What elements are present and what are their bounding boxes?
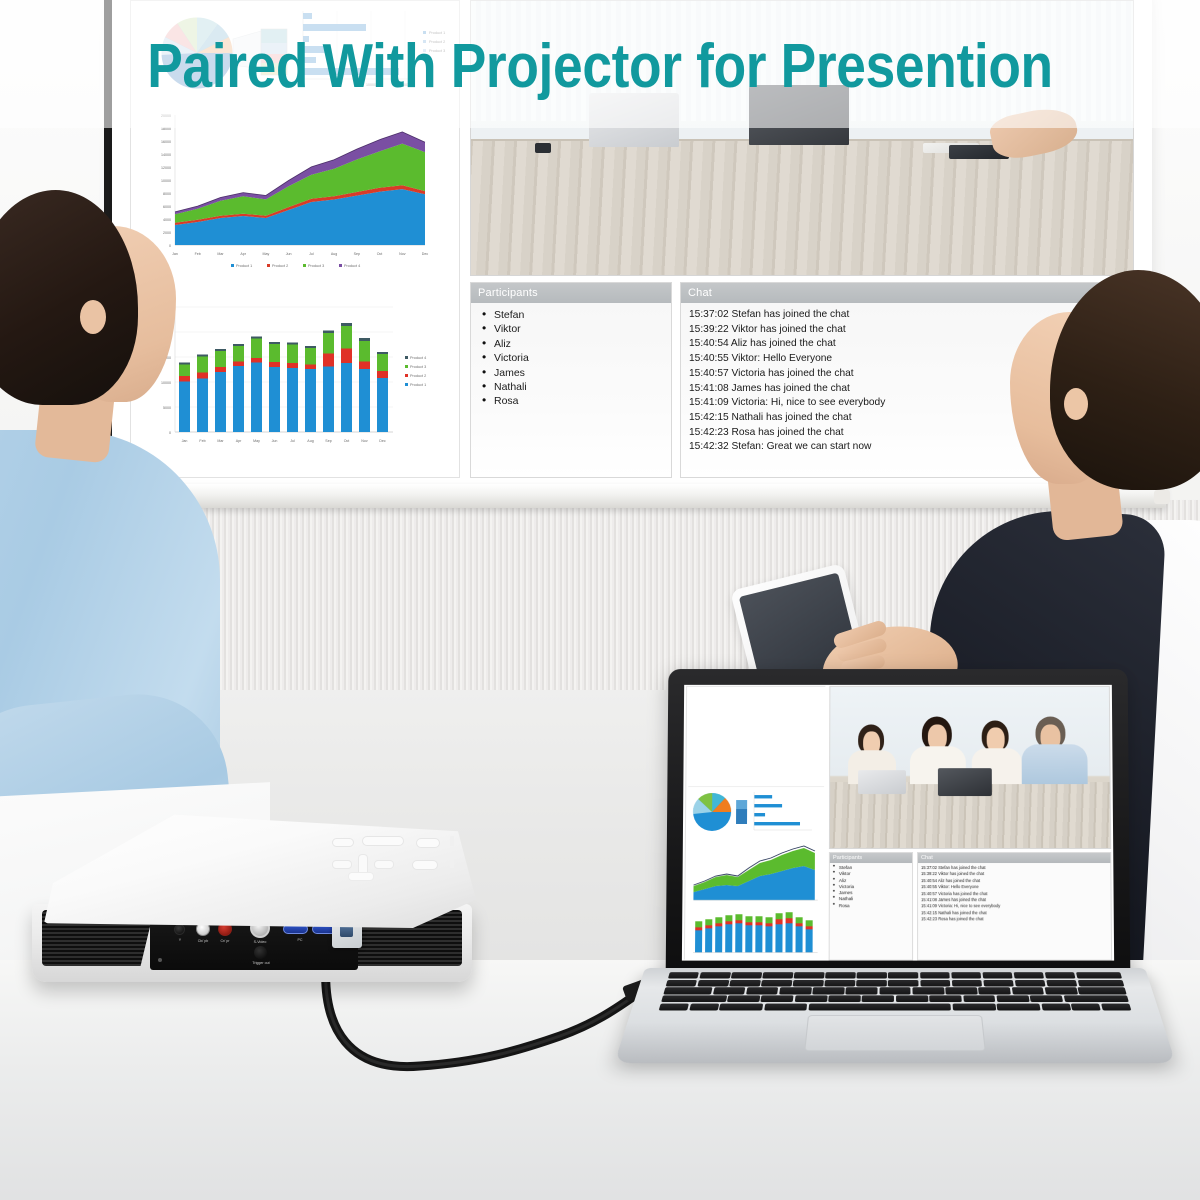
key[interactable]: [862, 995, 894, 1002]
laptop-participants-panel: Participants Stefan Viktor Aliz Victoria…: [829, 852, 913, 961]
key-control[interactable]: [689, 1003, 719, 1010]
svg-text:Oct: Oct: [377, 252, 383, 256]
status-indicator-1: [450, 836, 454, 846]
key[interactable]: [920, 972, 950, 979]
key[interactable]: [795, 995, 828, 1002]
list-item: Rosa: [833, 903, 909, 909]
port-label-s-video: S-Video: [244, 940, 276, 944]
svg-text:Aug: Aug: [331, 252, 337, 256]
port-component-y[interactable]: [174, 924, 185, 935]
list-item[interactable]: Victoria: [479, 351, 663, 365]
key[interactable]: [793, 980, 824, 987]
key[interactable]: [727, 995, 760, 1002]
key[interactable]: [746, 988, 779, 995]
list-item[interactable]: Rosa: [479, 394, 663, 408]
svg-text:Sep: Sep: [325, 439, 331, 443]
person-right-ear: [1064, 388, 1088, 420]
key[interactable]: [951, 980, 982, 987]
key[interactable]: [912, 988, 944, 995]
panel-screw-left-bottom: [158, 958, 162, 962]
svg-text:Product 3: Product 3: [410, 365, 426, 369]
laptop-chat-header: Chat: [918, 853, 1110, 863]
key-arrow-updown[interactable]: [1071, 1003, 1101, 1010]
key[interactable]: [731, 972, 762, 979]
key-option-right[interactable]: [997, 1003, 1041, 1010]
keyboard-row-home: [663, 988, 1126, 995]
svg-text:Dec: Dec: [379, 439, 386, 443]
key[interactable]: [1012, 988, 1045, 995]
key[interactable]: [996, 995, 1029, 1002]
list-item[interactable]: Nathali: [479, 380, 663, 394]
key[interactable]: [846, 988, 878, 995]
keyboard-row-numbers: [666, 980, 1125, 987]
key-fn[interactable]: [659, 1003, 689, 1010]
port-label-cb: Cb/ pb: [191, 939, 215, 943]
key[interactable]: [983, 980, 1014, 987]
svg-text:Product 3: Product 3: [308, 264, 324, 268]
key[interactable]: [1014, 980, 1045, 987]
key[interactable]: [697, 980, 729, 987]
key-space[interactable]: [808, 1003, 951, 1010]
key[interactable]: [929, 995, 961, 1002]
laptop-trackpad[interactable]: [804, 1015, 986, 1051]
key[interactable]: [1045, 972, 1076, 979]
video-conference-table: [470, 139, 1134, 276]
participants-panel: Participants Stefan Viktor Aliz Victoria…: [470, 282, 672, 478]
control-button-source[interactable]: [332, 838, 354, 847]
laptop-charts-svg: [685, 687, 826, 961]
key[interactable]: [813, 988, 845, 995]
key[interactable]: [978, 988, 1010, 995]
scene-root: 0 5000 10000 15000 Product 1 Product 2: [0, 0, 1200, 1200]
port-label-cr: Cr/ pr: [213, 939, 237, 943]
video-phone: [535, 143, 551, 153]
list-item[interactable]: Viktor: [479, 322, 663, 336]
key[interactable]: [825, 980, 856, 987]
key[interactable]: [779, 988, 811, 995]
key[interactable]: [856, 980, 886, 987]
key[interactable]: [920, 980, 950, 987]
key[interactable]: [879, 988, 911, 995]
key-arrow-left[interactable]: [1041, 1003, 1071, 1010]
port-label-pc: PC: [292, 938, 308, 942]
list-item[interactable]: James: [479, 366, 663, 380]
page-title: Paired With Projector for Presention: [84, 32, 1116, 102]
svg-text:May: May: [263, 252, 270, 256]
svg-text:Jun: Jun: [272, 439, 278, 443]
svg-text:Dec: Dec: [422, 252, 429, 256]
list-item[interactable]: Stefan: [479, 308, 663, 322]
svg-text:18000: 18000: [161, 127, 171, 131]
key-shift-right[interactable]: [1063, 995, 1129, 1002]
svg-text:Jun: Jun: [286, 252, 292, 256]
key[interactable]: [896, 995, 928, 1002]
participants-list: Stefan Viktor Aliz Victoria James Nathal…: [479, 308, 663, 409]
svg-text:Product 2: Product 2: [272, 264, 288, 268]
port-label-trigger-out: Trigger out: [242, 961, 280, 965]
chat-message: 15:42:23 Rosa has joined the chat: [921, 917, 1108, 923]
key-command-right[interactable]: [953, 1003, 996, 1010]
laptop-video-feed: [829, 686, 1111, 849]
person-left-ear: [80, 300, 106, 334]
port-label-y: Y: [168, 938, 192, 942]
person-right-hair: [1050, 270, 1200, 490]
laptop-participants-header: Participants: [830, 853, 912, 863]
control-button-right[interactable]: [374, 860, 394, 869]
svg-text:14000: 14000: [161, 153, 171, 157]
key[interactable]: [825, 972, 855, 979]
key[interactable]: [1030, 995, 1063, 1002]
key-command-left[interactable]: [764, 1003, 808, 1010]
key[interactable]: [1045, 988, 1078, 995]
key[interactable]: [762, 972, 793, 979]
key[interactable]: [729, 980, 760, 987]
port-trigger-out[interactable]: [254, 946, 267, 959]
key[interactable]: [951, 972, 981, 979]
keyboard-row-space: [659, 1003, 1132, 1010]
svg-text:Nov: Nov: [399, 252, 406, 256]
svg-text:Jul: Jul: [290, 439, 295, 443]
list-item[interactable]: Aliz: [479, 337, 663, 351]
key[interactable]: [888, 980, 918, 987]
status-indicator-2: [450, 858, 454, 868]
laptop-lid: Participants Stefan Viktor Aliz Victoria…: [666, 669, 1131, 985]
svg-text:Product 2: Product 2: [410, 374, 426, 378]
svg-text:Product 4: Product 4: [410, 356, 426, 360]
control-button-power[interactable]: [416, 838, 440, 848]
projector-top-cover: [26, 810, 476, 928]
laptop-charts-column: [684, 686, 826, 960]
key[interactable]: [761, 995, 794, 1002]
laptop-chat-panel: Chat 15:37:02 Stefan has joined the chat…: [917, 852, 1112, 961]
svg-text:12000: 12000: [161, 166, 171, 170]
control-button-enter[interactable]: [348, 872, 374, 881]
key-return[interactable]: [1078, 988, 1127, 995]
key-tab[interactable]: [666, 980, 698, 987]
key-arrow-right[interactable]: [1101, 1003, 1131, 1010]
participants-header: Participants: [471, 283, 671, 303]
laptop: Participants Stefan Viktor Aliz Victoria…: [645, 668, 1145, 1098]
key[interactable]: [699, 972, 730, 979]
key-capslock[interactable]: [663, 988, 712, 995]
control-button-keystone[interactable]: [412, 860, 438, 870]
key-shift-left[interactable]: [661, 995, 727, 1002]
key[interactable]: [1078, 980, 1125, 987]
person-left-hair: [0, 190, 138, 405]
control-button-menu[interactable]: [362, 836, 404, 846]
key[interactable]: [761, 980, 792, 987]
key[interactable]: [945, 988, 977, 995]
control-button-left[interactable]: [332, 860, 352, 869]
laptop-keyboard[interactable]: [659, 972, 1132, 1010]
key[interactable]: [794, 972, 824, 979]
key[interactable]: [888, 972, 918, 979]
laptop-mirrored-slide: Participants Stefan Viktor Aliz Victoria…: [682, 685, 1114, 961]
svg-text:Aug: Aug: [307, 439, 313, 443]
key[interactable]: [963, 995, 996, 1002]
key[interactable]: [668, 972, 700, 979]
keyboard-row-bottom: [661, 995, 1129, 1002]
key-delete[interactable]: [1076, 972, 1122, 979]
key[interactable]: [713, 988, 746, 995]
svg-text:Product 4: Product 4: [344, 264, 360, 268]
key[interactable]: [1013, 972, 1044, 979]
svg-text:Jul: Jul: [309, 252, 314, 256]
key[interactable]: [857, 972, 887, 979]
key[interactable]: [1046, 980, 1077, 987]
laptop-screen[interactable]: Participants Stefan Viktor Aliz Victoria…: [682, 685, 1114, 961]
laptop-base: [614, 968, 1176, 1063]
svg-text:Nov: Nov: [361, 439, 368, 443]
svg-text:16000: 16000: [161, 140, 171, 144]
svg-text:Oct: Oct: [344, 439, 350, 443]
key-option[interactable]: [719, 1003, 763, 1010]
svg-text:20000: 20000: [161, 114, 171, 118]
key[interactable]: [982, 972, 1013, 979]
svg-text:Product 1: Product 1: [410, 383, 426, 387]
svg-text:Sep: Sep: [354, 252, 360, 256]
keyboard-row-function: [668, 972, 1122, 979]
key[interactable]: [828, 995, 860, 1002]
projector-device: Y Cb/ pb Cr/ pr S-Video Trigger out PC: [18, 806, 488, 1006]
